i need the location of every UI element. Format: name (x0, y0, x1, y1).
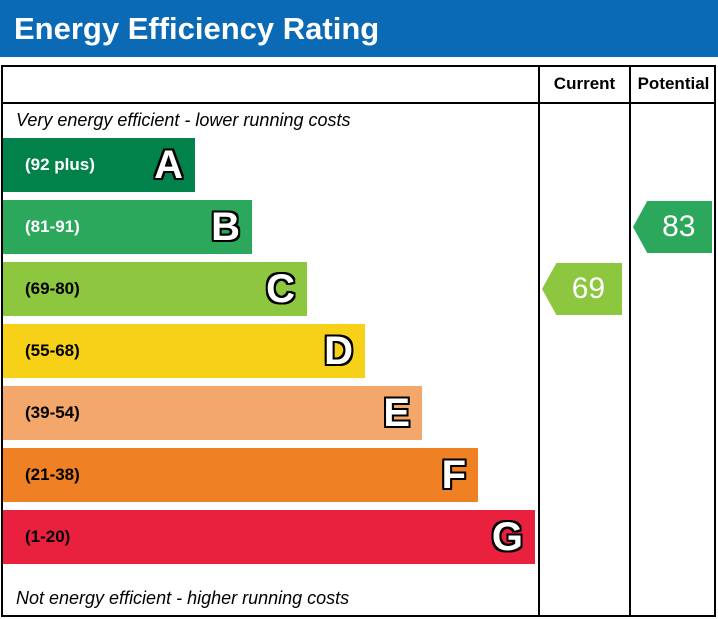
column-header-current: Current (540, 65, 629, 102)
band-letter-a: A (154, 145, 183, 185)
caption-bottom: Not energy efficient - higher running co… (16, 588, 349, 609)
band-range-label: (21-38) (25, 465, 80, 485)
rating-band-c: (69-80)C (3, 262, 307, 316)
band-range-label: (69-80) (25, 279, 80, 299)
chart-title-bar: Energy Efficiency Rating (0, 0, 718, 57)
potential-rating-arrow: 83 (633, 201, 712, 253)
rating-band-e: (39-54)E (3, 386, 422, 440)
band-letter-c: C (266, 269, 295, 309)
potential-rating-value: 83 (650, 212, 707, 242)
band-letter-b: B (211, 207, 240, 247)
current-rating-arrow: 69 (542, 263, 622, 315)
rating-band-b: (81-91)B (3, 200, 252, 254)
band-letter-d: D (324, 331, 353, 371)
band-range-label: (81-91) (25, 217, 80, 237)
rating-band-g: (1-20)G (3, 510, 535, 564)
caption-top: Very energy efficient - lower running co… (16, 110, 351, 131)
column-divider-potential (629, 65, 631, 617)
band-range-label: (92 plus) (25, 155, 95, 175)
energy-efficiency-rating-chart: Energy Efficiency Rating Current Potenti… (0, 0, 718, 619)
band-range-label: (1-20) (25, 527, 70, 547)
band-letter-e: E (383, 393, 410, 433)
column-header-potential: Potential (631, 65, 716, 102)
band-letter-g: G (492, 517, 523, 557)
rating-band-f: (21-38)F (3, 448, 478, 502)
header-divider (1, 102, 716, 104)
page-title: Energy Efficiency Rating (14, 11, 379, 47)
rating-band-a: (92 plus)A (3, 138, 195, 192)
band-range-label: (55-68) (25, 341, 80, 361)
band-range-label: (39-54) (25, 403, 80, 423)
band-letter-f: F (442, 455, 466, 495)
column-divider-current (538, 65, 540, 617)
current-rating-value: 69 (560, 274, 618, 304)
rating-band-d: (55-68)D (3, 324, 365, 378)
